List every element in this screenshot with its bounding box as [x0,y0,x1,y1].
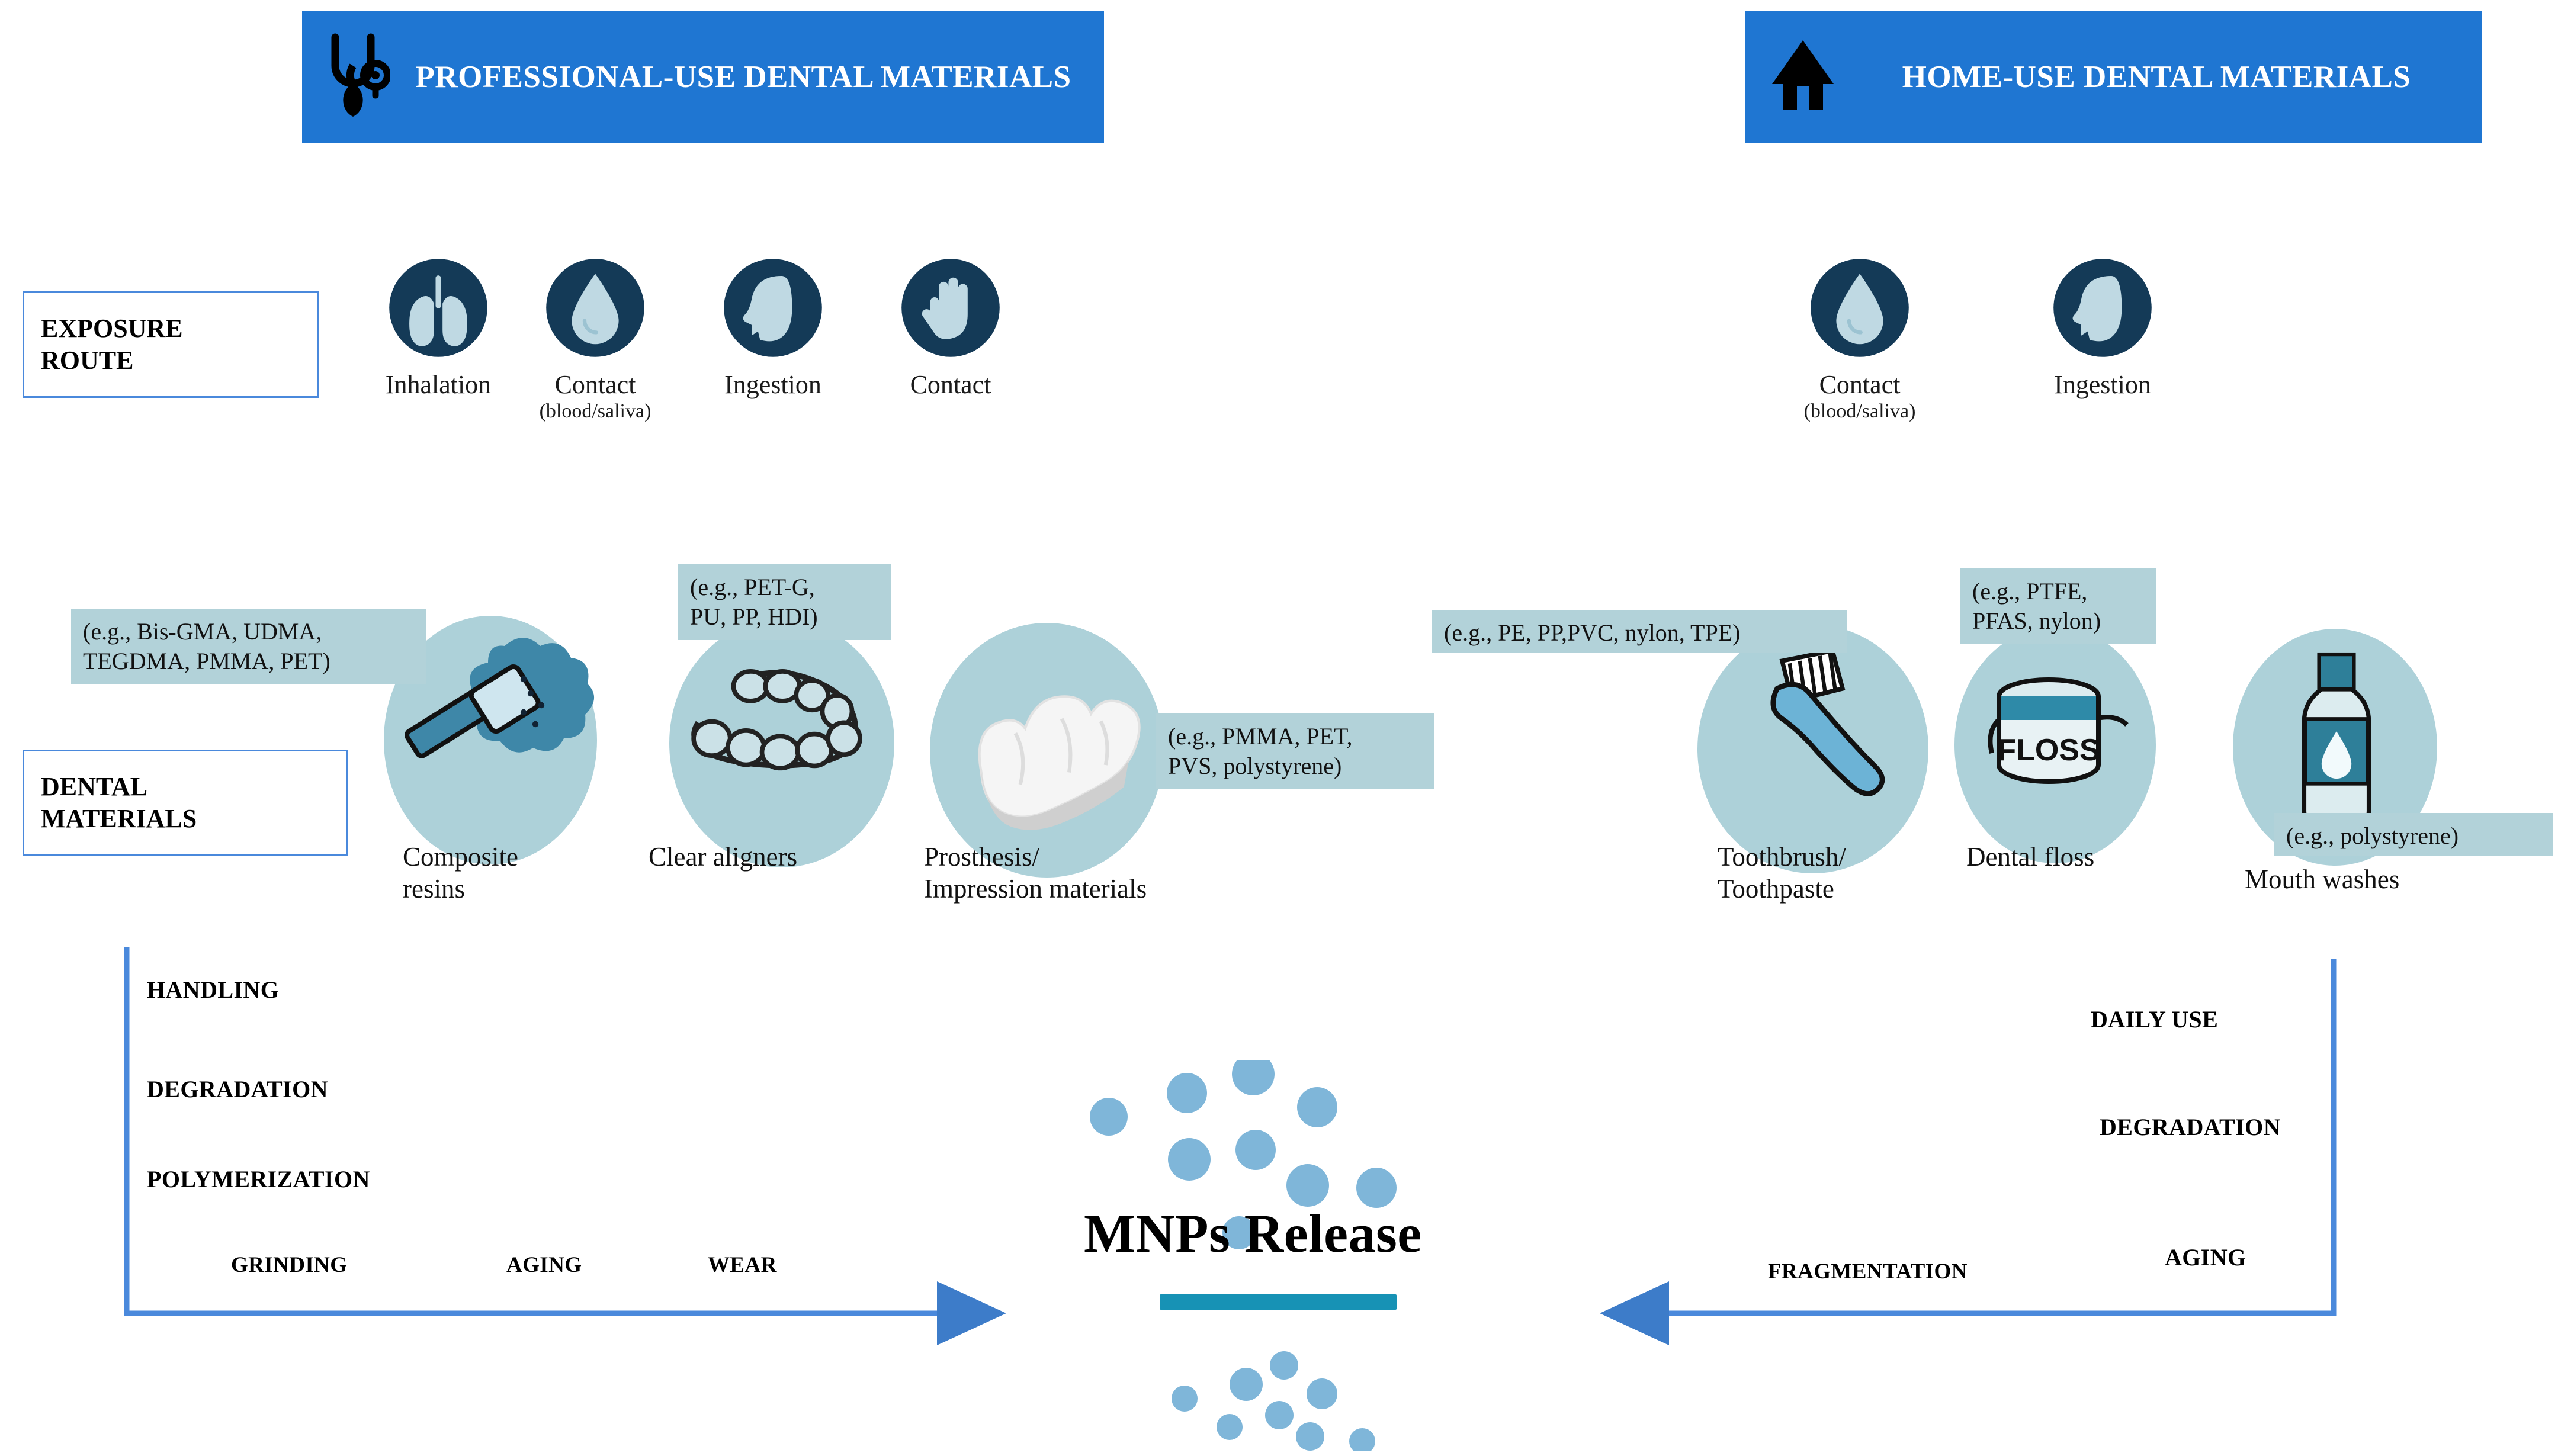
process-text: WEAR [708,1253,777,1277]
process-text: AGING [2165,1244,2246,1271]
process-label-grinding: GRINDING [231,1252,347,1278]
process-label-handling: HANDLING [147,976,279,1004]
process-label-wear: WEAR [708,1252,777,1278]
process-text: POLYMERIZATION [147,1166,370,1193]
process-label-aging-left: AGING [506,1252,582,1278]
process-text: AGING [506,1253,582,1277]
process-label-degradation: DEGRADATION [147,1075,328,1103]
process-label-fragmentation: FRAGMENTATION [1768,1259,1968,1284]
mnps-release-text: MNPs Release [1084,1203,1422,1264]
process-label-aging-right: AGING [2165,1243,2246,1271]
figure-canvas: PROFESSIONAL-USE DENTAL MATERIALS HOME-U… [0,0,2574,1456]
process-label-daily-use: DAILY USE [2091,1005,2218,1033]
process-text: HANDLING [147,976,279,1003]
process-label-polymerization: POLYMERIZATION [147,1165,370,1193]
process-text: GRINDING [231,1253,347,1277]
mnps-release-title: MNPs Release [1084,1202,1422,1265]
process-text: DEGRADATION [2100,1114,2281,1140]
mnps-release-underline [1160,1294,1397,1310]
process-text: DEGRADATION [147,1076,328,1103]
process-text: FRAGMENTATION [1768,1259,1968,1284]
process-label-degradation-right: DEGRADATION [2100,1113,2281,1141]
process-text: DAILY USE [2091,1006,2218,1033]
